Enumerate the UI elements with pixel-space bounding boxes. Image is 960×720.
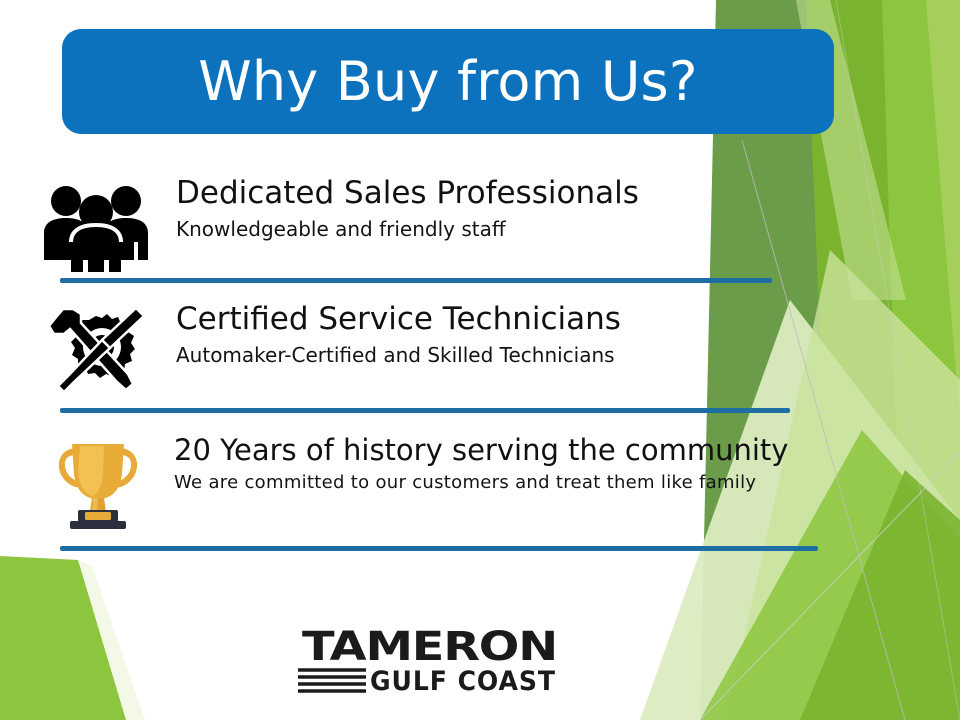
benefit-row-sales-professionals: Dedicated Sales Professionals Knowledgea… <box>0 170 960 280</box>
row-divider <box>60 408 790 413</box>
tameron-gulf-coast-logo: TAMERON GULF COAST <box>292 622 564 696</box>
logo-primary-text: TAMERON <box>302 624 557 670</box>
trophy-icon <box>42 436 154 530</box>
benefit-row-years-of-history: 20 Years of history serving the communit… <box>0 428 960 538</box>
gear-wrench-screwdriver-icon <box>40 304 152 398</box>
row-divider <box>60 278 772 283</box>
slide-canvas: Why Buy from Us? <box>0 0 960 720</box>
title-banner: Why Buy from Us? <box>62 29 834 134</box>
benefit-subtitle: Automaker-Certified and Skilled Technici… <box>176 344 850 367</box>
benefit-text-block: 20 Years of history serving the communit… <box>174 434 850 494</box>
group-of-people-icon <box>40 178 152 272</box>
benefit-title: 20 Years of history serving the communit… <box>174 434 850 466</box>
benefit-subtitle: We are committed to our customers and tr… <box>174 473 850 494</box>
benefit-text-block: Dedicated Sales Professionals Knowledgea… <box>176 176 850 241</box>
row-divider <box>60 546 818 551</box>
benefit-title: Certified Service Technicians <box>176 302 850 337</box>
benefit-title: Dedicated Sales Professionals <box>176 176 850 211</box>
benefit-subtitle: Knowledgeable and friendly staff <box>176 218 850 241</box>
benefit-row-service-technicians: Certified Service Technicians Automaker-… <box>0 296 960 406</box>
logo-secondary-text: GULF COAST <box>370 666 556 696</box>
page-title: Why Buy from Us? <box>198 55 697 109</box>
benefits-list: Dedicated Sales Professionals Knowledgea… <box>0 170 960 538</box>
logo-stripes <box>298 670 366 691</box>
benefit-text-block: Certified Service Technicians Automaker-… <box>176 302 850 367</box>
